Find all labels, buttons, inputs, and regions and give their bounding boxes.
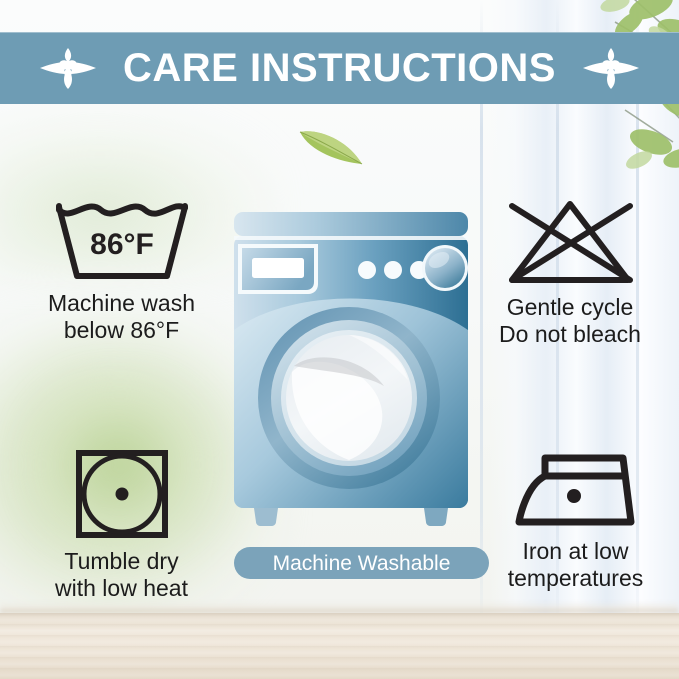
fleur-de-lis-icon-left [39,45,97,91]
wash-tub-icon: 86°F [47,196,197,284]
badge-label: Machine Washable [273,553,451,574]
header-banner: CARE INSTRUCTIONS [0,32,679,104]
table-edge-highlight [0,601,679,613]
care-caption-iron: Iron at low temperatures [508,538,644,592]
wash-temperature-value: 86°F [90,228,154,261]
wooden-table-surface [0,613,679,679]
tumble-dry-low-heat-icon [72,446,172,542]
no-bleach-triangle-icon [496,196,644,288]
care-item-iron-low: Iron at low temperatures [478,450,673,592]
care-item-gentle-cycle-no-bleach: Gentle cycle Do not bleach [470,196,670,348]
status-badge-machine-washable: Machine Washable [234,547,489,579]
care-item-tumble-dry: Tumble dry with low heat [14,446,229,602]
care-caption-tumble-dry: Tumble dry with low heat [55,548,188,602]
care-caption-gentle-cycle: Gentle cycle Do not bleach [499,294,641,348]
care-item-machine-wash: 86°F Machine wash below 86°F [14,196,229,344]
indicator-dot-2 [384,261,402,279]
indicator-dot-1 [358,261,376,279]
care-caption-machine-wash: Machine wash below 86°F [48,290,195,344]
iron-low-temperature-icon [511,450,641,532]
fleur-de-lis-icon-right [582,45,640,91]
care-instructions-graphic: CARE INSTRUCTIONS 86°F Machine wash belo… [0,0,679,679]
page-title: CARE INSTRUCTIONS [123,48,556,88]
floating-leaf-icon [296,122,366,168]
washing-machine-illustration [232,210,470,535]
